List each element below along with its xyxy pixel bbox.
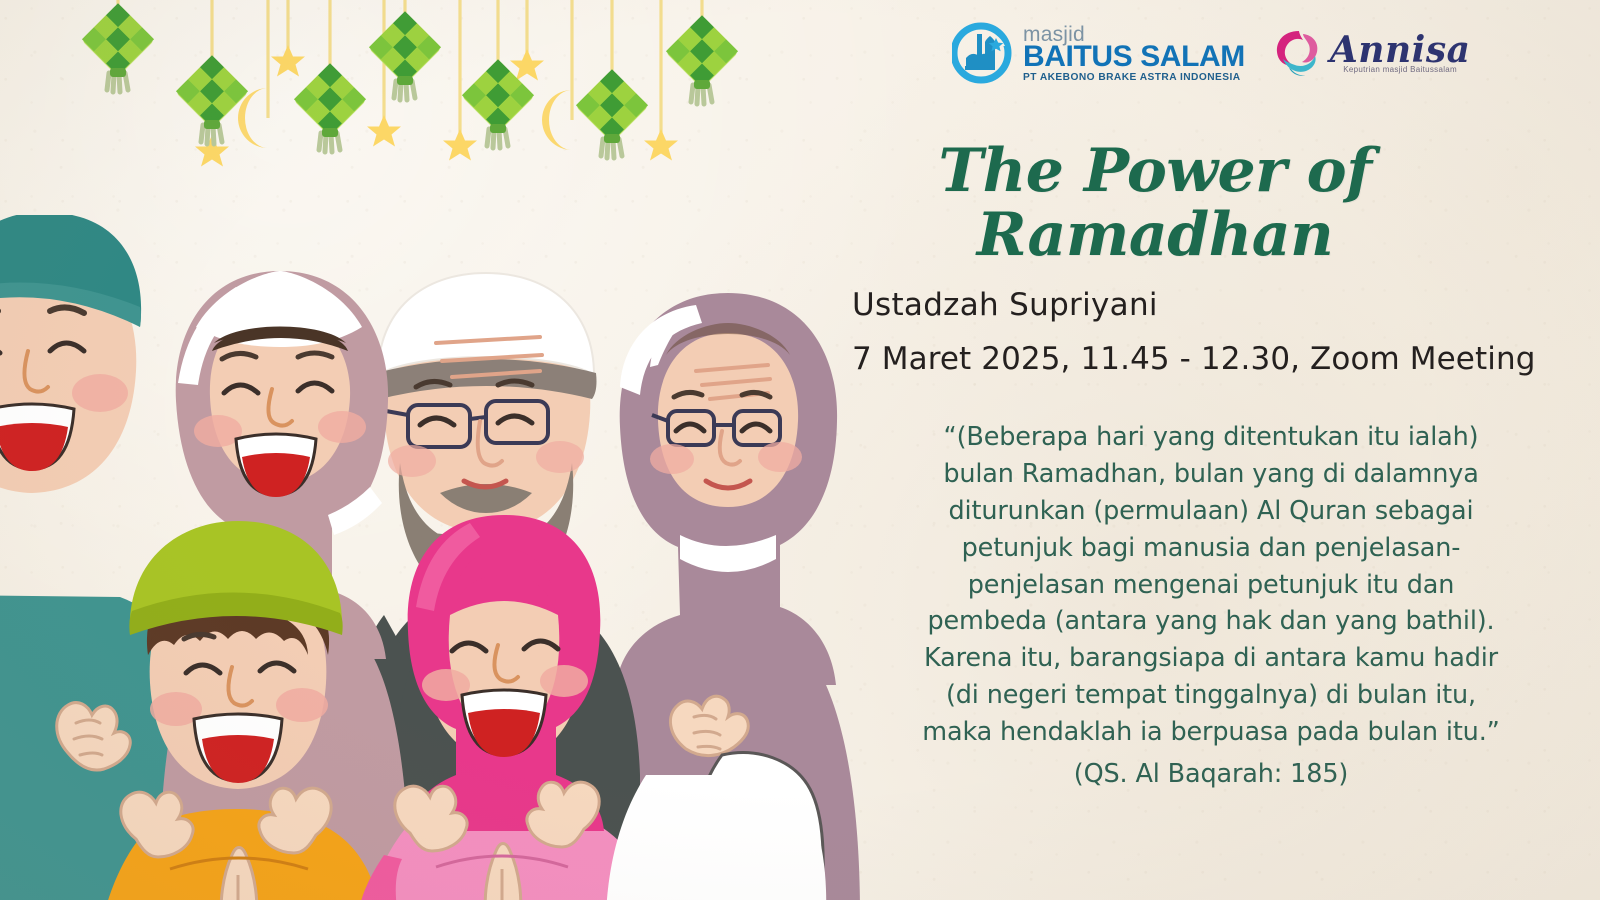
quote-line: (di negeri tempat tinggalnya) di bulan i… bbox=[946, 680, 1476, 710]
star-ornament bbox=[510, 49, 544, 81]
logo-masjid-line2: BAITUS SALAM bbox=[1023, 42, 1245, 72]
quote-line: diturunkan (permulaan) Al Quran sebagai bbox=[949, 496, 1474, 526]
quote-line: Karena itu, barangsiapa di antara kamu h… bbox=[924, 643, 1498, 673]
ketupat-ornament bbox=[665, 15, 739, 104]
star-ornament bbox=[644, 129, 678, 161]
ketupat-ornament bbox=[81, 3, 155, 92]
ketupat-ornament bbox=[575, 69, 649, 158]
white-robe bbox=[606, 775, 826, 900]
star-ornament bbox=[367, 115, 401, 147]
logo-masjid-baitus-salam: masjid BAITUS SALAM PT AKEBONO BRAKE AST… bbox=[952, 22, 1245, 84]
star-ornament bbox=[443, 129, 477, 161]
logo-annisa-word: Annisa bbox=[1330, 32, 1471, 68]
moon-ornament bbox=[542, 90, 572, 150]
event-datetime: 7 Maret 2025, 11.45 - 12.30, Zoom Meetin… bbox=[852, 341, 1550, 377]
ketupat-ornament bbox=[175, 55, 249, 144]
ketupat-ornament bbox=[368, 11, 442, 100]
speaker-name: Ustadzah Supriyani bbox=[852, 287, 1550, 323]
star-ornament bbox=[271, 45, 305, 77]
quote-line: penjelasan mengenai petunjuk itu dan bbox=[968, 570, 1454, 600]
ketupat-ornament bbox=[293, 63, 367, 152]
logo-masjid-line3: PT AKEBONO BRAKE ASTRA INDONESIA bbox=[1023, 73, 1245, 83]
logo-annisa-subtitle: Keputrian masjid Baitussalam bbox=[1330, 66, 1471, 74]
logo-row: masjid BAITUS SALAM PT AKEBONO BRAKE AST… bbox=[952, 22, 1470, 84]
quote-line: bulan Ramadhan, bulan yang di dalamnya bbox=[943, 459, 1478, 489]
mosque-circle-icon bbox=[952, 22, 1014, 84]
quote-line: pembeda (antara yang hak dan yang bathil… bbox=[927, 606, 1494, 636]
page-title: The Power of Ramadhan bbox=[760, 140, 1550, 267]
quote-line: petunjuk bagi manusia dan penjelasan- bbox=[962, 533, 1461, 563]
logo-annisa: Annisa Keputrian masjid Baitussalam bbox=[1269, 25, 1471, 81]
ramadhan-poster: masjid BAITUS SALAM PT AKEBONO BRAKE AST… bbox=[0, 0, 1600, 900]
quote-line: “(Beberapa hari yang ditentukan itu iala… bbox=[944, 422, 1479, 452]
hanging-ornaments bbox=[0, 0, 780, 200]
quran-quote: “(Beberapa hari yang ditentukan itu iala… bbox=[908, 419, 1514, 792]
quote-source: (QS. Al Baqarah: 185) bbox=[908, 756, 1514, 793]
hijab-swirl-icon bbox=[1269, 25, 1325, 81]
event-info-panel: The Power of Ramadhan Ustadzah Supriyani… bbox=[760, 140, 1550, 793]
quote-line: maka hendaklah ia berpuasa pada bulan it… bbox=[922, 717, 1499, 747]
